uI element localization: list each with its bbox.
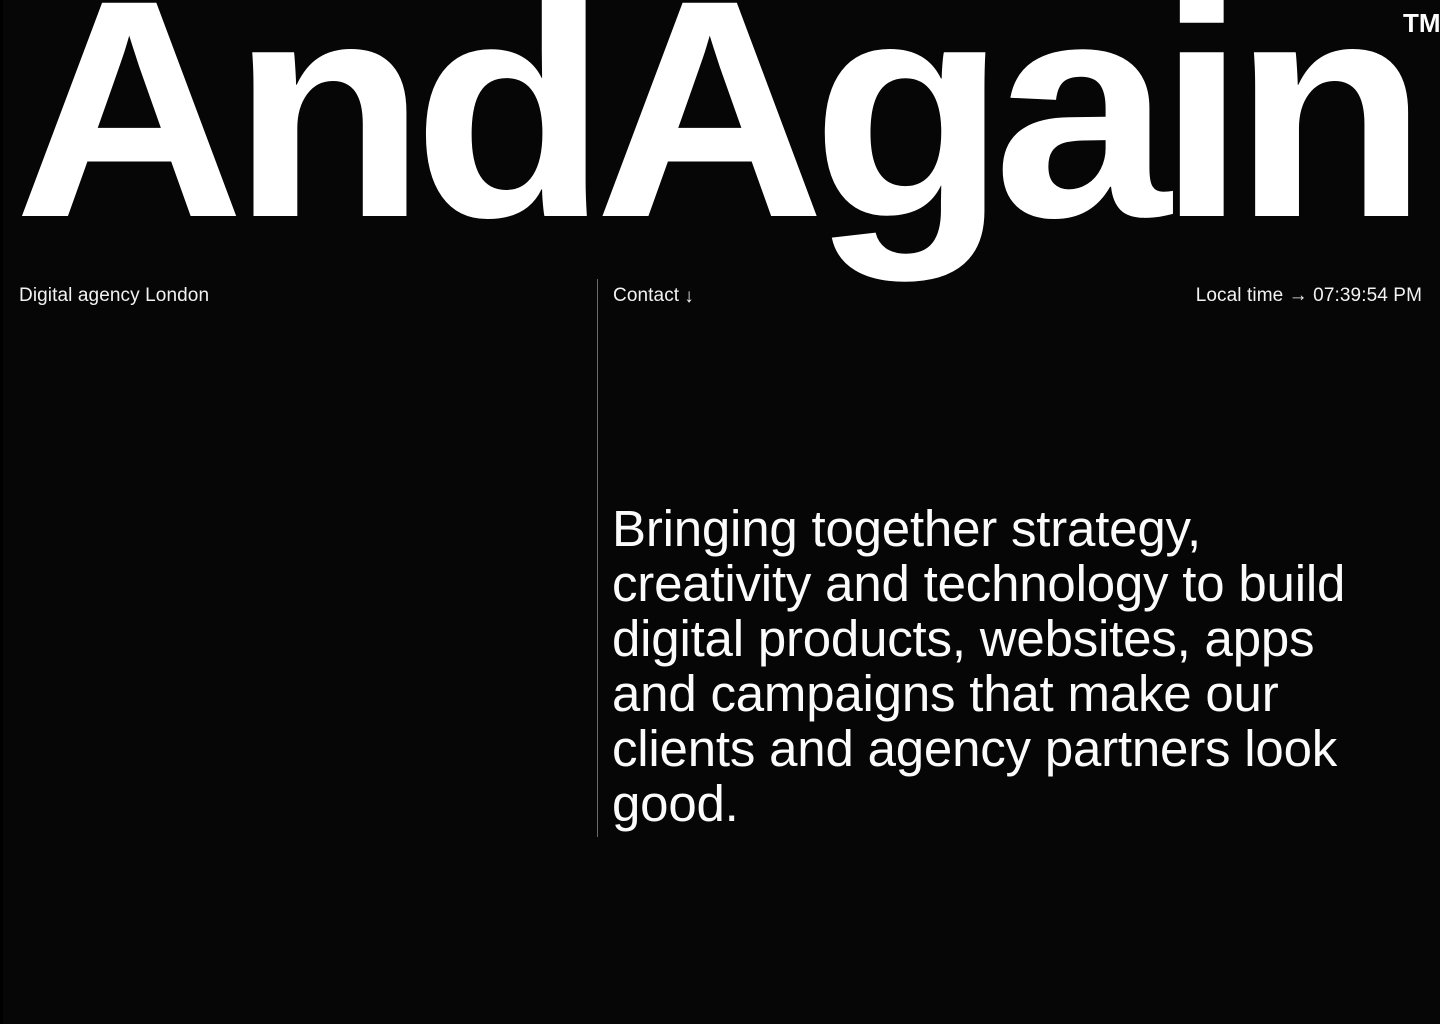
contact-link[interactable]: Contact↓ — [613, 283, 694, 309]
page-root: AndAgainTM Digital agency London Contact… — [0, 0, 1440, 1024]
left-edge-strip — [0, 0, 3, 1024]
intro-paragraph: Bringing together strategy, creativity a… — [612, 501, 1382, 831]
arrow-down-icon: ↓ — [679, 284, 694, 310]
contact-link-label: Contact — [613, 285, 679, 306]
wordmark-container: AndAgainTM — [0, 0, 1440, 300]
header-meta-row: Digital agency London Contact↓ Local tim… — [0, 283, 1440, 317]
brand-wordmark[interactable]: AndAgainTM — [14, 0, 1415, 264]
local-time: Local time → 07:39:54 PM — [1196, 283, 1422, 309]
column-divider — [597, 279, 598, 837]
brand-wordmark-text: AndAgain — [14, 0, 1415, 282]
trademark-icon: TM — [1403, 10, 1440, 36]
tagline: Digital agency London — [19, 283, 209, 309]
